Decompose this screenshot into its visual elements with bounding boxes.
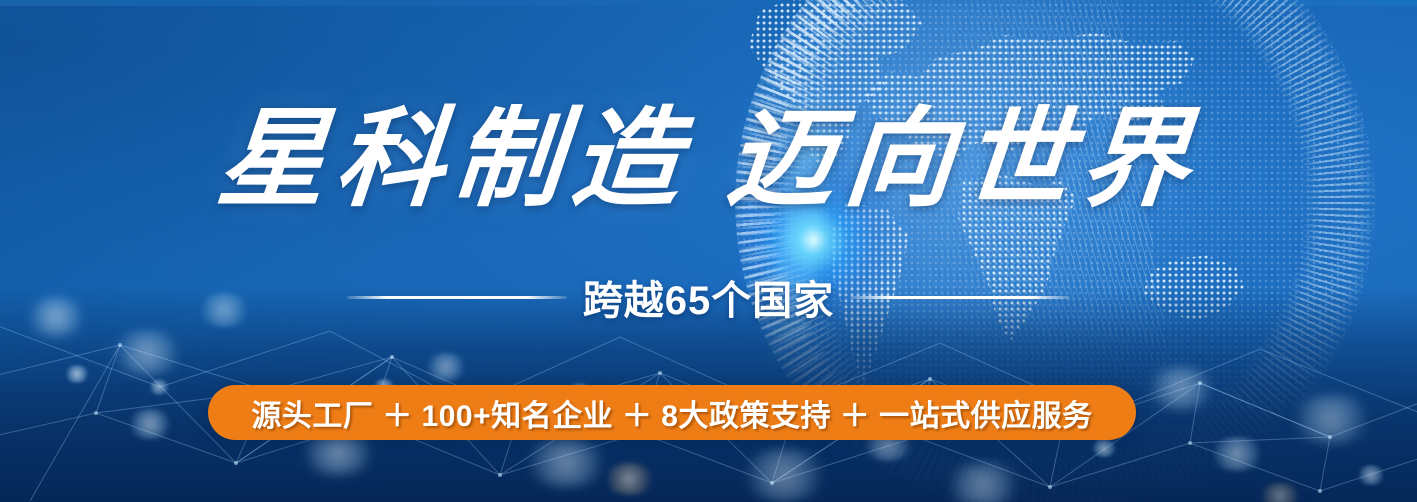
decorative-rule-right: [850, 296, 1070, 299]
banner-content: 星科制造 迈向世界 跨越65个国家 源头工厂 ＋ 100+知名企业 ＋ 8大政策…: [0, 0, 1417, 502]
banner-subtitle-row: 跨越65个国家: [0, 268, 1417, 326]
banner-headline: 星科制造 迈向世界: [0, 104, 1417, 217]
highlight-pill-label: 源头工厂 ＋ 100+知名企业 ＋ 8大政策支持 ＋ 一站式供应服务: [251, 391, 1092, 435]
promo-banner: 星科制造 迈向世界 跨越65个国家 源头工厂 ＋ 100+知名企业 ＋ 8大政策…: [0, 0, 1417, 502]
highlight-pill[interactable]: 源头工厂 ＋ 100+知名企业 ＋ 8大政策支持 ＋ 一站式供应服务: [208, 385, 1136, 440]
banner-subtitle: 跨越65个国家: [583, 268, 835, 326]
decorative-rule-left: [347, 296, 567, 299]
